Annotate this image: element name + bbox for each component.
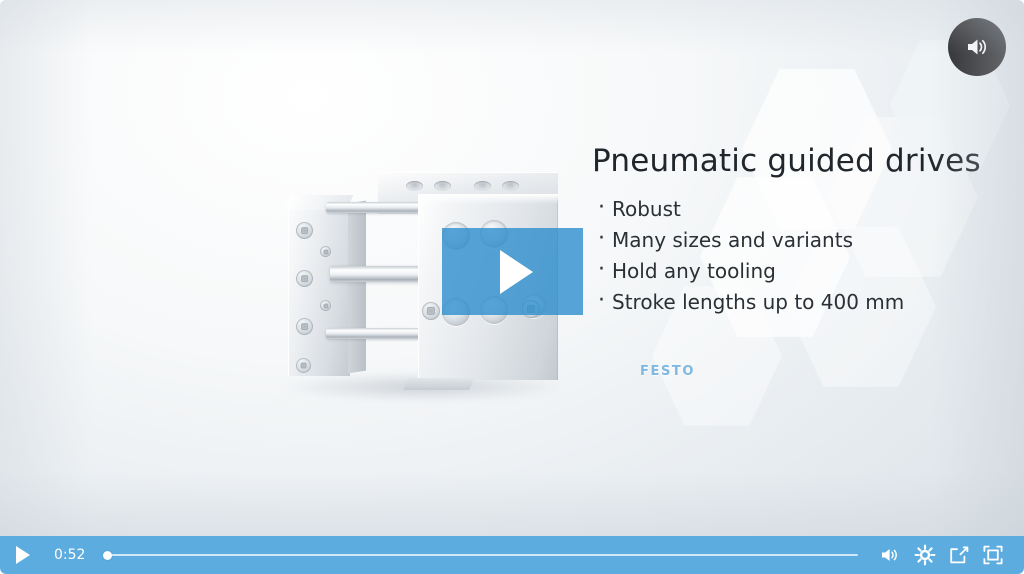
product-brand-logo: FESTO bbox=[640, 364, 695, 379]
video-control-bar[interactable]: 0:52 bbox=[0, 536, 1024, 574]
volume-on-icon bbox=[964, 34, 990, 60]
page-title: Pneumatic guided drives bbox=[592, 144, 992, 178]
product-end-plate bbox=[288, 208, 350, 376]
progress-handle[interactable] bbox=[103, 551, 112, 560]
play-icon bbox=[16, 546, 30, 564]
fullscreen-icon bbox=[982, 544, 1004, 566]
share-button[interactable] bbox=[942, 540, 976, 570]
list-item: Hold any tooling bbox=[592, 256, 992, 287]
play-triangle-icon bbox=[500, 250, 533, 294]
slide-copy: Pneumatic guided drives Robust Many size… bbox=[592, 144, 992, 318]
volume-icon bbox=[880, 545, 902, 565]
list-item: Stroke lengths up to 400 mm bbox=[592, 287, 992, 318]
progress-track[interactable] bbox=[105, 554, 858, 556]
list-item: Robust bbox=[592, 194, 992, 225]
feature-bullet-list: Robust Many sizes and variants Hold any … bbox=[592, 194, 992, 318]
fullscreen-button[interactable] bbox=[976, 540, 1010, 570]
video-player[interactable]: FESTO Pneumatic guided drives Robust Man… bbox=[0, 0, 1024, 574]
audio-toggle-button[interactable] bbox=[948, 18, 1006, 76]
settings-gear-icon bbox=[914, 544, 936, 566]
current-time-label: 0:52 bbox=[54, 547, 85, 563]
center-play-overlay-button[interactable] bbox=[442, 228, 583, 315]
settings-button[interactable] bbox=[908, 540, 942, 570]
play-button[interactable] bbox=[10, 542, 36, 568]
video-stage[interactable]: FESTO Pneumatic guided drives Robust Man… bbox=[0, 0, 1024, 536]
list-item: Many sizes and variants bbox=[592, 225, 992, 256]
volume-button[interactable] bbox=[874, 540, 908, 570]
progress-scrubber[interactable] bbox=[105, 546, 858, 564]
share-icon bbox=[948, 544, 970, 566]
